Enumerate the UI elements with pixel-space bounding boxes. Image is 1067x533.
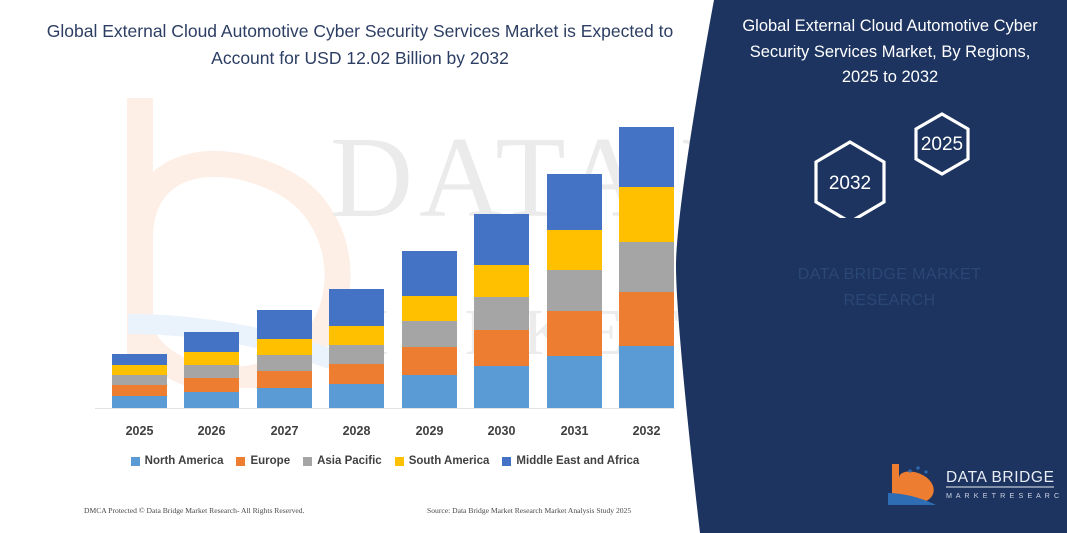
bar-segment: [184, 365, 239, 378]
brand-watermark-text: DATA BRIDGE MARKET RESEARCH: [722, 262, 1057, 313]
bar-segment: [184, 332, 239, 352]
bar-segment: [257, 371, 312, 388]
bar-segment: [329, 364, 384, 384]
bar-2030: [474, 214, 529, 408]
bar-segment: [402, 251, 457, 296]
legend-label: North America: [145, 455, 224, 467]
bar-segment: [474, 297, 529, 330]
bar-2028: [329, 289, 384, 408]
logo-subtitle: M A R K E T R E S E A R C H: [946, 491, 1062, 500]
legend-item[interactable]: Europe: [236, 455, 290, 467]
bar-segment: [329, 289, 384, 326]
bar-2032: [619, 127, 674, 408]
bar-segment: [547, 356, 602, 408]
bar-2025: [112, 354, 167, 408]
x-axis-label-2032: 2032: [619, 424, 674, 438]
footer-copyright: DMCA Protected © Data Bridge Market Rese…: [84, 506, 304, 515]
chart-legend: North AmericaEuropeAsia PacificSouth Ame…: [95, 455, 675, 467]
bar-segment: [257, 355, 312, 371]
bar-segment: [474, 265, 529, 297]
brand-watermark-line2: RESEARCH: [722, 288, 1057, 314]
legend-label: Europe: [250, 455, 290, 467]
panel-title: Global External Cloud Automotive Cyber S…: [730, 14, 1050, 91]
legend-swatch-icon: [502, 457, 511, 466]
bar-segment: [402, 347, 457, 375]
legend-label: Asia Pacific: [317, 455, 382, 467]
legend-swatch-icon: [131, 457, 140, 466]
x-axis-label-2027: 2027: [257, 424, 312, 438]
stacked-bar-chart: [95, 120, 675, 412]
bar-segment: [402, 321, 457, 347]
bar-segment: [547, 174, 602, 230]
x-axis-label-2028: 2028: [329, 424, 384, 438]
bar-segment: [547, 230, 602, 270]
chart-plot: [95, 120, 675, 409]
bar-segment: [257, 339, 312, 355]
footer: DMCA Protected © Data Bridge Market Rese…: [0, 506, 700, 524]
bar-segment: [402, 296, 457, 321]
bar-segment: [619, 346, 674, 408]
right-panel: Global External Cloud Automotive Cyber S…: [712, 0, 1067, 533]
hexagon-2032-label: 2032: [829, 173, 871, 194]
x-axis-label-2029: 2029: [402, 424, 457, 438]
hexagon-2025-label: 2025: [921, 134, 963, 155]
bar-segment: [547, 311, 602, 356]
bar-segment: [619, 292, 674, 346]
bar-2031: [547, 174, 602, 408]
x-axis-label-2030: 2030: [474, 424, 529, 438]
bar-segment: [184, 352, 239, 365]
footer-source: Source: Data Bridge Market Research Mark…: [427, 506, 631, 515]
logo-mark-icon: [888, 464, 936, 505]
bar-segment: [329, 345, 384, 364]
bar-segment: [474, 214, 529, 265]
x-axis-label-2031: 2031: [547, 424, 602, 438]
bar-segment: [184, 378, 239, 392]
x-axis-label-2025: 2025: [112, 424, 167, 438]
bar-segment: [112, 375, 167, 385]
legend-swatch-icon: [395, 457, 404, 466]
bar-segment: [474, 366, 529, 408]
bar-segment: [257, 388, 312, 408]
legend-swatch-icon: [303, 457, 312, 466]
page-title: Global External Cloud Automotive Cyber S…: [40, 18, 680, 72]
brand-watermark-line1: DATA BRIDGE MARKET: [722, 262, 1057, 288]
bar-segment: [402, 375, 457, 408]
legend-swatch-icon: [236, 457, 245, 466]
bar-segment: [112, 385, 167, 396]
bar-segment: [619, 187, 674, 242]
legend-item[interactable]: South America: [395, 455, 490, 467]
bar-segment: [619, 242, 674, 292]
infographic-root: DATA BRIDGE MARKET RESEARCH Global Exter…: [0, 0, 1067, 533]
bar-segment: [112, 396, 167, 408]
bar-2029: [402, 251, 457, 408]
bar-segment: [619, 127, 674, 187]
data-bridge-logo: DATA BRIDGE M A R K E T R E S E A R C H: [882, 460, 1062, 508]
bar-segment: [112, 365, 167, 375]
bar-segment: [184, 392, 239, 408]
hexagon-group: 2025 2032: [802, 108, 982, 213]
bar-segment: [257, 310, 312, 339]
x-axis-label-2026: 2026: [184, 424, 239, 438]
bar-segment: [329, 326, 384, 345]
chart-area: Global External Cloud Automotive Cyber S…: [0, 0, 712, 533]
legend-label: Middle East and Africa: [516, 455, 639, 467]
legend-item[interactable]: North America: [131, 455, 224, 467]
bar-segment: [112, 354, 167, 365]
bar-2027: [257, 310, 312, 408]
bar-segment: [474, 330, 529, 366]
legend-item[interactable]: Asia Pacific: [303, 455, 382, 467]
bar-segment: [547, 270, 602, 311]
logo-title: DATA BRIDGE: [946, 469, 1055, 486]
x-axis-line: [95, 408, 675, 409]
bar-2026: [184, 332, 239, 408]
legend-label: South America: [409, 455, 490, 467]
x-axis-labels: 20252026202720282029203020312032: [95, 424, 675, 444]
legend-item[interactable]: Middle East and Africa: [502, 455, 639, 467]
bar-segment: [329, 384, 384, 408]
